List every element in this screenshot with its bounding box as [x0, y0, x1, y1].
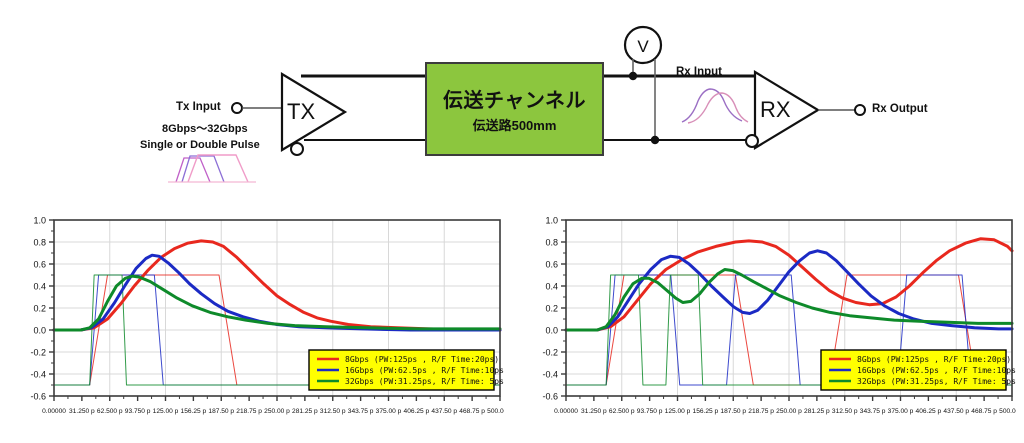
x-tick-label: 281.25 p — [804, 408, 830, 415]
x-axis: 0.0000031.250 p62.500 p93.750 p125.00 p1… — [42, 396, 504, 415]
y-axis: 1.00.80.60.40.20.0-0.2-0.4-0.6 — [30, 216, 54, 402]
x-tick-label: 62.500 p — [97, 408, 123, 415]
y-tick-label: 0.8 — [545, 238, 558, 248]
y-tick-label: 1.0 — [545, 216, 558, 226]
x-tick-label: 250.00 p — [776, 408, 802, 415]
x-tick-label: 156.25 p — [181, 408, 207, 415]
x-tick-label: 406.25 p — [404, 408, 430, 415]
channel-subtitle: 伝送路500mm — [473, 115, 557, 134]
tx-input-pulse-thumbnail — [168, 155, 256, 182]
x-tick-label: 375.00 p — [888, 408, 914, 415]
x-tick-label: 281.25 p — [292, 408, 318, 415]
chart-single-pulse: 1.00.80.60.40.20.0-0.2-0.4-0.60.0000031.… — [4, 206, 504, 441]
x-tick-label: 125.00 p — [153, 408, 179, 415]
x-tick-label: 500.00 p — [999, 408, 1016, 415]
y-tick-label: 0.6 — [545, 260, 558, 270]
y-tick-label: 0.2 — [545, 304, 558, 314]
x-tick-label: 156.25 p — [693, 408, 719, 415]
tx-input-label: Tx Input — [176, 101, 221, 113]
rx-output-terminal — [855, 105, 865, 115]
channel-title: 伝送チャンネル — [443, 84, 586, 113]
voltmeter-label: V — [637, 37, 649, 56]
tx-rate-label: 8Gbps～32Gbps — [162, 120, 248, 136]
x-tick-label: 468.75 p — [459, 408, 485, 415]
y-tick-label: 0.0 — [545, 326, 558, 336]
y-tick-label: -0.6 — [542, 392, 558, 402]
rx-inverting-bubble — [746, 135, 758, 147]
plot-svg: 1.00.80.60.40.20.0-0.2-0.4-0.60.0000031.… — [516, 206, 1016, 441]
rx-block-label: RX — [760, 97, 791, 123]
tx-inverting-bubble — [291, 143, 303, 155]
x-tick-label: 218.75 p — [236, 408, 262, 415]
screenshot-root: V 伝送チャンネ — [0, 0, 1024, 443]
x-tick-label: 0.00000 — [42, 408, 66, 415]
block-diagram: V 伝送チャンネ — [0, 0, 1024, 200]
x-tick-label: 437.50 p — [943, 408, 969, 415]
x-tick-label: 406.25 p — [916, 408, 942, 415]
chart-legend: 8Gbps (PW:125ps , R/F Time:20ps)16Gbps (… — [821, 350, 1016, 390]
y-tick-label: -0.4 — [30, 370, 46, 380]
tx-block-label: TX — [287, 99, 315, 125]
y-tick-label: -0.2 — [542, 348, 558, 358]
x-tick-label: 312.50 p — [320, 408, 346, 415]
legend-label: 32Gbps (PW:31.25ps, R/F Time: 5ps) — [857, 377, 1016, 386]
x-tick-label: 343.75 p — [860, 408, 886, 415]
plot-svg: 1.00.80.60.40.20.0-0.2-0.4-0.60.0000031.… — [4, 206, 504, 441]
rx-input-label: Rx Input — [676, 66, 722, 78]
y-tick-label: -0.4 — [542, 370, 558, 380]
legend-label: 16Gbps (PW:62.5ps , R/F Time:10ps) — [857, 366, 1016, 375]
y-tick-label: 0.4 — [33, 282, 46, 292]
x-tick-label: 125.00 p — [665, 408, 691, 415]
x-tick-label: 31.250 p — [69, 408, 95, 415]
y-tick-label: 0.6 — [33, 260, 46, 270]
x-tick-label: 250.00 p — [264, 408, 290, 415]
y-tick-label: -0.2 — [30, 348, 46, 358]
tx-input-terminal — [232, 103, 242, 113]
node-dot-top — [629, 72, 637, 80]
x-tick-label: 93.750 p — [125, 408, 151, 415]
x-tick-label: 31.250 p — [581, 408, 607, 415]
x-tick-label: 343.75 p — [348, 408, 374, 415]
x-tick-label: 0.00000 — [554, 408, 578, 415]
transmission-channel-block: 伝送チャンネル 伝送路500mm — [425, 62, 604, 156]
x-tick-label: 312.50 p — [832, 408, 858, 415]
x-tick-label: 375.00 p — [376, 408, 402, 415]
y-tick-label: -0.6 — [30, 392, 46, 402]
legend-label: 32Gbps (PW:31.25ps, R/F Time: 5ps) — [345, 377, 504, 386]
y-tick-label: 1.0 — [33, 216, 46, 226]
legend-label: 8Gbps (PW:125ps , R/F Time:20ps) — [857, 355, 1011, 364]
x-tick-label: 93.750 p — [637, 408, 663, 415]
x-axis: 0.0000031.250 p62.500 p93.750 p125.00 p1… — [554, 396, 1016, 415]
x-tick-label: 218.75 p — [748, 408, 774, 415]
y-tick-label: 0.8 — [33, 238, 46, 248]
x-tick-label: 500.00 p — [487, 408, 504, 415]
x-tick-label: 187.50 p — [208, 408, 234, 415]
rx-input-pulse-thumbnail — [682, 89, 748, 123]
node-dot-bottom — [651, 136, 659, 144]
tx-pulse-label: Single or Double Pulse — [140, 139, 260, 151]
y-tick-label: 0.4 — [545, 282, 558, 292]
legend-label: 8Gbps (PW:125ps , R/F Time:20ps) — [345, 355, 499, 364]
y-tick-label: 0.0 — [33, 326, 46, 336]
x-tick-label: 62.500 p — [609, 408, 635, 415]
chart-legend: 8Gbps (PW:125ps , R/F Time:20ps)16Gbps (… — [309, 350, 504, 390]
chart-double-pulse: 1.00.80.60.40.20.0-0.2-0.4-0.60.0000031.… — [516, 206, 1016, 441]
y-tick-label: 0.2 — [33, 304, 46, 314]
y-axis: 1.00.80.60.40.20.0-0.2-0.4-0.6 — [542, 216, 566, 402]
x-tick-label: 437.50 p — [431, 408, 457, 415]
legend-label: 16Gbps (PW:62.5ps , R/F Time:10ps) — [345, 366, 504, 375]
rx-output-label: Rx Output — [872, 103, 928, 115]
x-tick-label: 468.75 p — [971, 408, 997, 415]
x-tick-label: 187.50 p — [720, 408, 746, 415]
